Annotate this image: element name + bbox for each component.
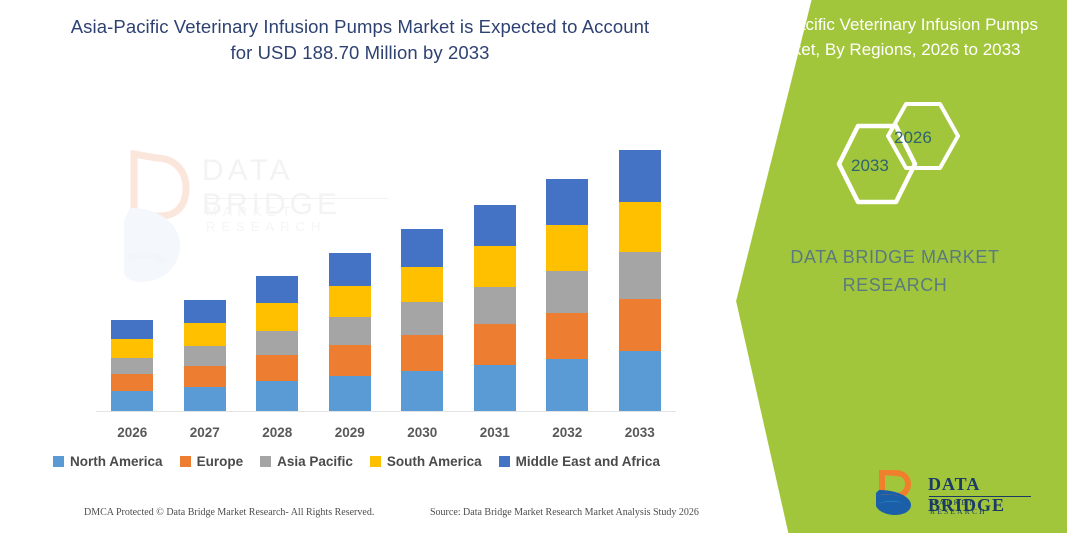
legend-label: North America [70,454,163,469]
legend-label: Europe [197,454,244,469]
x-axis-label-2032: 2032 [531,425,603,440]
bar-segment-2026-north-america[interactable] [111,391,153,412]
x-axis-label-2027: 2027 [169,425,241,440]
bar-segment-2029-asia-pacific[interactable] [329,317,371,345]
legend-label: Middle East and Africa [516,454,660,469]
bar-segment-2027-north-america[interactable] [184,387,226,412]
side-panel: Asia-Pacific Veterinary Infusion Pumps M… [680,0,1067,533]
bar-segment-2030-europe[interactable] [401,335,443,371]
bar-segment-2027-middle-east-and-africa[interactable] [184,300,226,323]
panel-brand-text: DATA BRIDGE MARKET RESEARCH [740,243,1050,299]
x-axis-label-2031: 2031 [459,425,531,440]
bar-segment-2026-south-america[interactable] [111,339,153,358]
bar-segment-2031-south-america[interactable] [474,246,516,286]
bar-segment-2032-asia-pacific[interactable] [546,271,588,313]
page-title: Asia-Pacific Veterinary Infusion Pumps M… [60,14,660,66]
legend-item-asia-pacific[interactable]: Asia Pacific [260,454,353,469]
bar-segment-2032-middle-east-and-africa[interactable] [546,179,588,225]
bar-segment-2029-south-america[interactable] [329,286,371,318]
bar-segment-2028-north-america[interactable] [256,381,298,412]
bar-segment-2030-asia-pacific[interactable] [401,302,443,335]
bar-segment-2030-middle-east-and-africa[interactable] [401,229,443,267]
bar-2030[interactable] [401,229,443,412]
data-bridge-logo-icon [873,470,921,516]
bar-segment-2027-asia-pacific[interactable] [184,346,226,366]
chart-legend: North AmericaEuropeAsia PacificSouth Ame… [0,454,713,469]
bar-segment-2033-europe[interactable] [619,299,661,350]
hexagon-icon [810,96,970,216]
bar-segment-2026-asia-pacific[interactable] [111,358,153,374]
infographic-root: Asia-Pacific Veterinary Infusion Pumps M… [0,0,1067,533]
legend-item-north-america[interactable]: North America [53,454,163,469]
bar-segment-2029-europe[interactable] [329,345,371,377]
logo-tagline: MARKET RESEARCH [930,498,1033,516]
bar-segment-2033-asia-pacific[interactable] [619,252,661,299]
bar-segment-2033-middle-east-and-africa[interactable] [619,150,661,201]
bar-2029[interactable] [329,253,371,412]
x-axis-label-2028: 2028 [241,425,313,440]
bar-segment-2028-europe[interactable] [256,355,298,382]
bar-segment-2031-north-america[interactable] [474,365,516,412]
x-axis-line [96,411,676,412]
bar-segment-2028-asia-pacific[interactable] [256,331,298,355]
legend-swatch-icon [499,456,510,467]
hexagon-year-2033: 2033 [851,156,889,176]
bar-segment-2029-north-america[interactable] [329,376,371,412]
x-axis-labels: 20262027202820292030203120322033 [96,420,676,444]
x-axis-label-2030: 2030 [386,425,458,440]
logo-divider [929,496,1031,497]
bar-2032[interactable] [546,179,588,412]
bar-segment-2031-europe[interactable] [474,324,516,364]
legend-item-europe[interactable]: Europe [180,454,244,469]
hexagon-year-2026: 2026 [894,128,932,148]
bar-segment-2032-north-america[interactable] [546,359,588,412]
panel-title: Asia-Pacific Veterinary Infusion Pumps M… [732,12,1052,62]
chart-panel: Asia-Pacific Veterinary Infusion Pumps M… [0,0,713,533]
legend-label: Asia Pacific [277,454,353,469]
bar-2028[interactable] [256,276,298,412]
bar-segment-2029-middle-east-and-africa[interactable] [329,253,371,286]
bar-segment-2026-middle-east-and-africa[interactable] [111,320,153,339]
bar-chart-plot [96,96,676,412]
x-axis-label-2026: 2026 [96,425,168,440]
bar-segment-2033-south-america[interactable] [619,202,661,252]
bar-segment-2026-europe[interactable] [111,374,153,392]
footer-copyright: DMCA Protected © Data Bridge Market Rese… [84,507,374,518]
bar-segment-2031-middle-east-and-africa[interactable] [474,205,516,246]
bar-2031[interactable] [474,205,516,412]
bar-segment-2027-south-america[interactable] [184,323,226,346]
bar-segment-2028-south-america[interactable] [256,303,298,331]
bar-segment-2030-south-america[interactable] [401,267,443,303]
bar-2027[interactable] [184,300,226,412]
brand-logo: DATA BRIDGE MARKET RESEARCH [873,470,1033,518]
legend-item-middle-east-and-africa[interactable]: Middle East and Africa [499,454,660,469]
bar-2033[interactable] [619,150,661,412]
bar-2026[interactable] [111,320,153,412]
bar-segment-2030-north-america[interactable] [401,371,443,412]
legend-swatch-icon [260,456,271,467]
bar-segment-2032-europe[interactable] [546,313,588,358]
legend-item-south-america[interactable]: South America [370,454,482,469]
bar-segment-2033-north-america[interactable] [619,351,661,412]
bar-segment-2028-middle-east-and-africa[interactable] [256,276,298,304]
hexagon-group: 2026 2033 [810,96,970,216]
legend-swatch-icon [53,456,64,467]
footer-source: Source: Data Bridge Market Research Mark… [430,507,699,518]
legend-swatch-icon [370,456,381,467]
bar-segment-2027-europe[interactable] [184,366,226,388]
legend-swatch-icon [180,456,191,467]
bar-segment-2031-asia-pacific[interactable] [474,287,516,325]
x-axis-label-2033: 2033 [604,425,676,440]
legend-label: South America [387,454,482,469]
x-axis-label-2029: 2029 [314,425,386,440]
bar-segment-2032-south-america[interactable] [546,225,588,270]
